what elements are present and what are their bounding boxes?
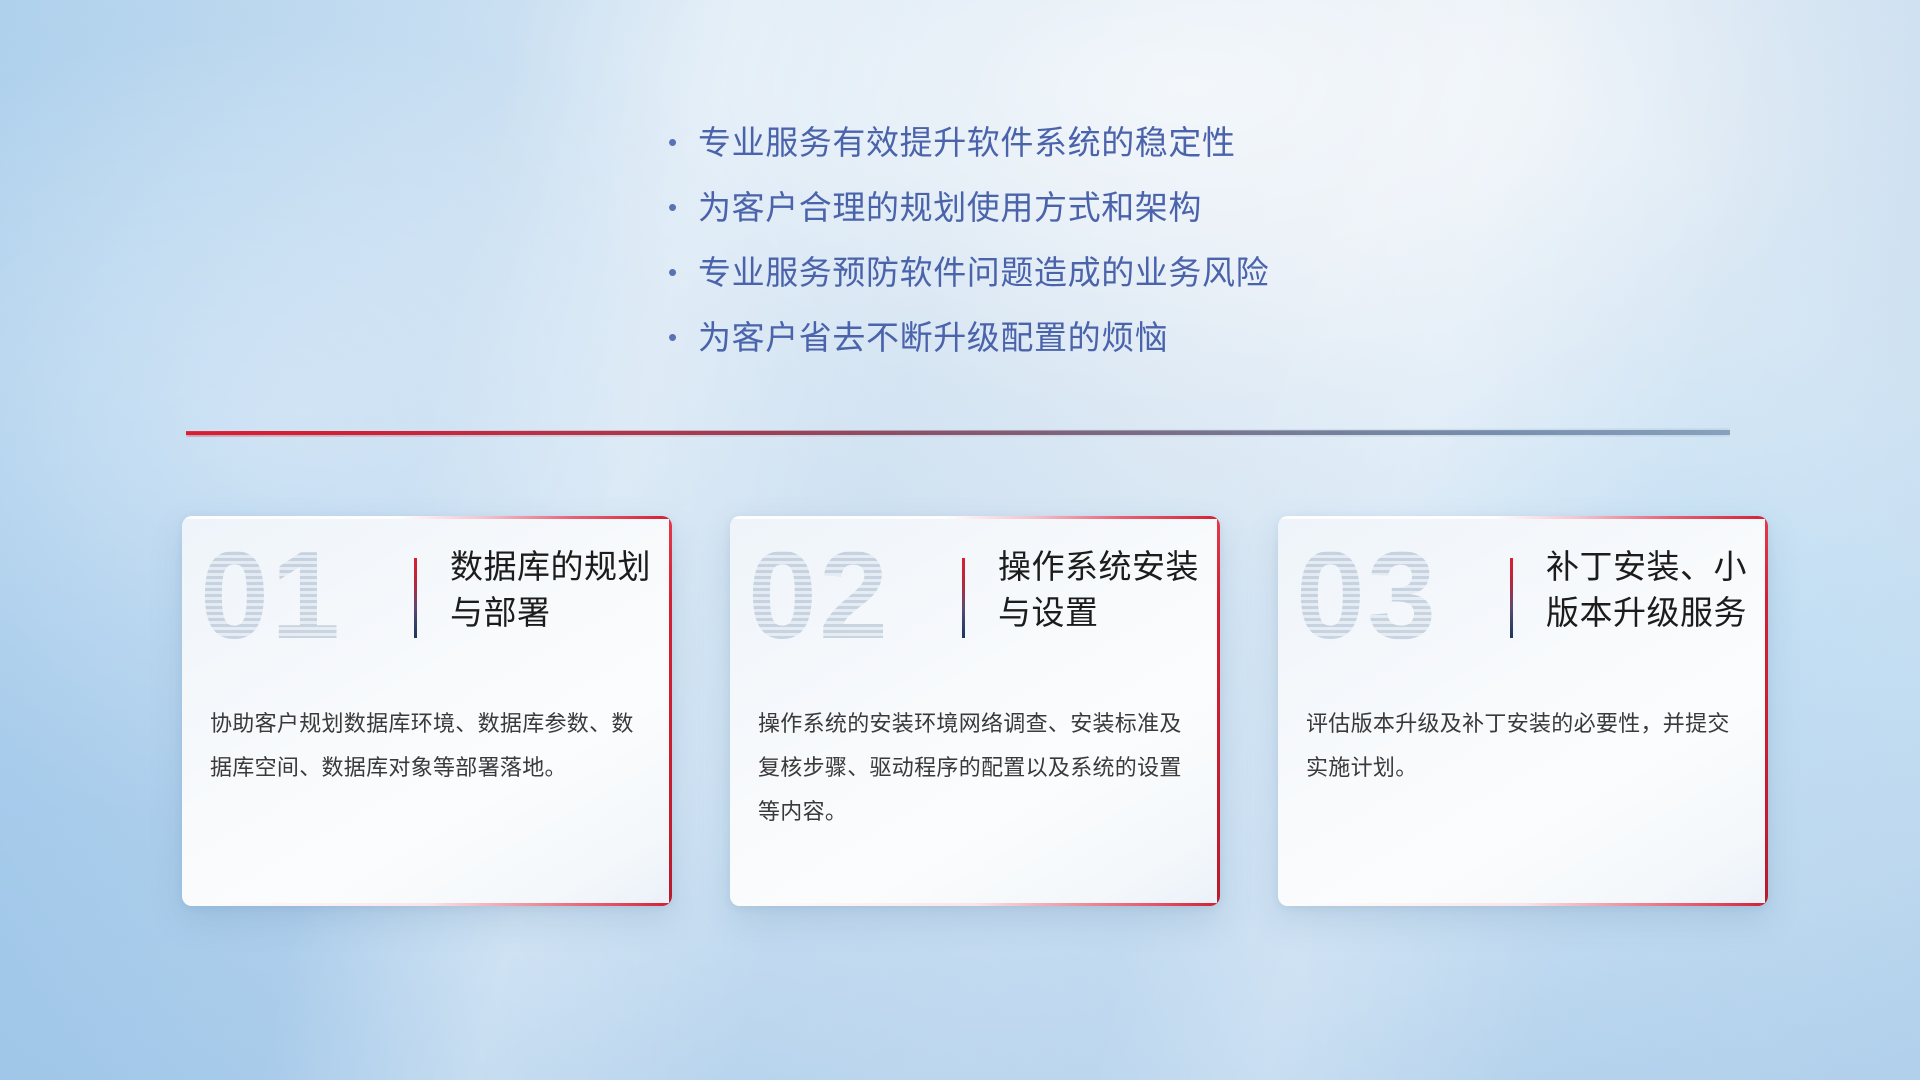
- bullet-item: • 专业服务有效提升软件系统的稳定性: [668, 110, 1269, 175]
- bullet-point-icon: •: [668, 240, 698, 305]
- card-bottom-accent: [730, 903, 1220, 906]
- bullet-item-text: 专业服务有效提升软件系统的稳定性: [698, 110, 1236, 175]
- bullet-item-text: 专业服务预防软件问题造成的业务风险: [698, 240, 1269, 305]
- bullet-item: • 为客户合理的规划使用方式和架构: [668, 175, 1269, 240]
- service-card[interactable]: 01 01 数据库的规划与部署 协助客户规划数据库环境、数据库参数、数据库空间、…: [182, 516, 672, 906]
- card-title-rule: [962, 558, 965, 638]
- service-card-group: 01 01 数据库的规划与部署 协助客户规划数据库环境、数据库参数、数据库空间、…: [182, 516, 1768, 906]
- card-number-watermark: 02: [748, 528, 890, 664]
- bullet-item-text: 为客户省去不断升级配置的烦恼: [698, 305, 1168, 370]
- card-bottom-accent: [1278, 903, 1768, 906]
- card-header: 02 02 操作系统安装与设置: [730, 516, 1220, 674]
- card-title: 数据库的规划与部署: [450, 544, 656, 636]
- bullet-item: • 为客户省去不断升级配置的烦恼: [668, 305, 1269, 370]
- card-body-text: 操作系统的安装环境网络调查、安装标准及复核步骤、驱动程序的配置以及系统的设置等内…: [758, 702, 1188, 834]
- divider-stripe: [186, 430, 1730, 435]
- service-card[interactable]: 03 03 补丁安装、小版本升级服务 评估版本升级及补丁安装的必要性，并提交实施…: [1278, 516, 1768, 906]
- bullet-point-icon: •: [668, 305, 698, 370]
- card-title: 操作系统安装与设置: [998, 544, 1204, 636]
- card-bottom-accent: [182, 903, 672, 906]
- benefits-bullet-list: • 专业服务有效提升软件系统的稳定性 • 为客户合理的规划使用方式和架构 • 专…: [668, 110, 1269, 370]
- bullet-item: • 专业服务预防软件问题造成的业务风险: [668, 240, 1269, 305]
- bullet-point-icon: •: [668, 175, 698, 240]
- card-body-text: 评估版本升级及补丁安装的必要性，并提交实施计划。: [1306, 702, 1736, 790]
- card-title-rule: [414, 558, 417, 638]
- bullet-point-icon: •: [668, 110, 698, 175]
- card-body-text: 协助客户规划数据库环境、数据库参数、数据库空间、数据库对象等部署落地。: [210, 702, 640, 790]
- card-title: 补丁安装、小版本升级服务: [1546, 544, 1752, 636]
- card-header: 03 03 补丁安装、小版本升级服务: [1278, 516, 1768, 674]
- card-header: 01 01 数据库的规划与部署: [182, 516, 672, 674]
- section-divider: [186, 424, 1730, 440]
- card-number-watermark: 01: [200, 528, 342, 664]
- bullet-item-text: 为客户合理的规划使用方式和架构: [698, 175, 1202, 240]
- card-title-rule: [1510, 558, 1513, 638]
- service-card[interactable]: 02 02 操作系统安装与设置 操作系统的安装环境网络调查、安装标准及复核步骤、…: [730, 516, 1220, 906]
- card-number-watermark: 03: [1296, 528, 1438, 664]
